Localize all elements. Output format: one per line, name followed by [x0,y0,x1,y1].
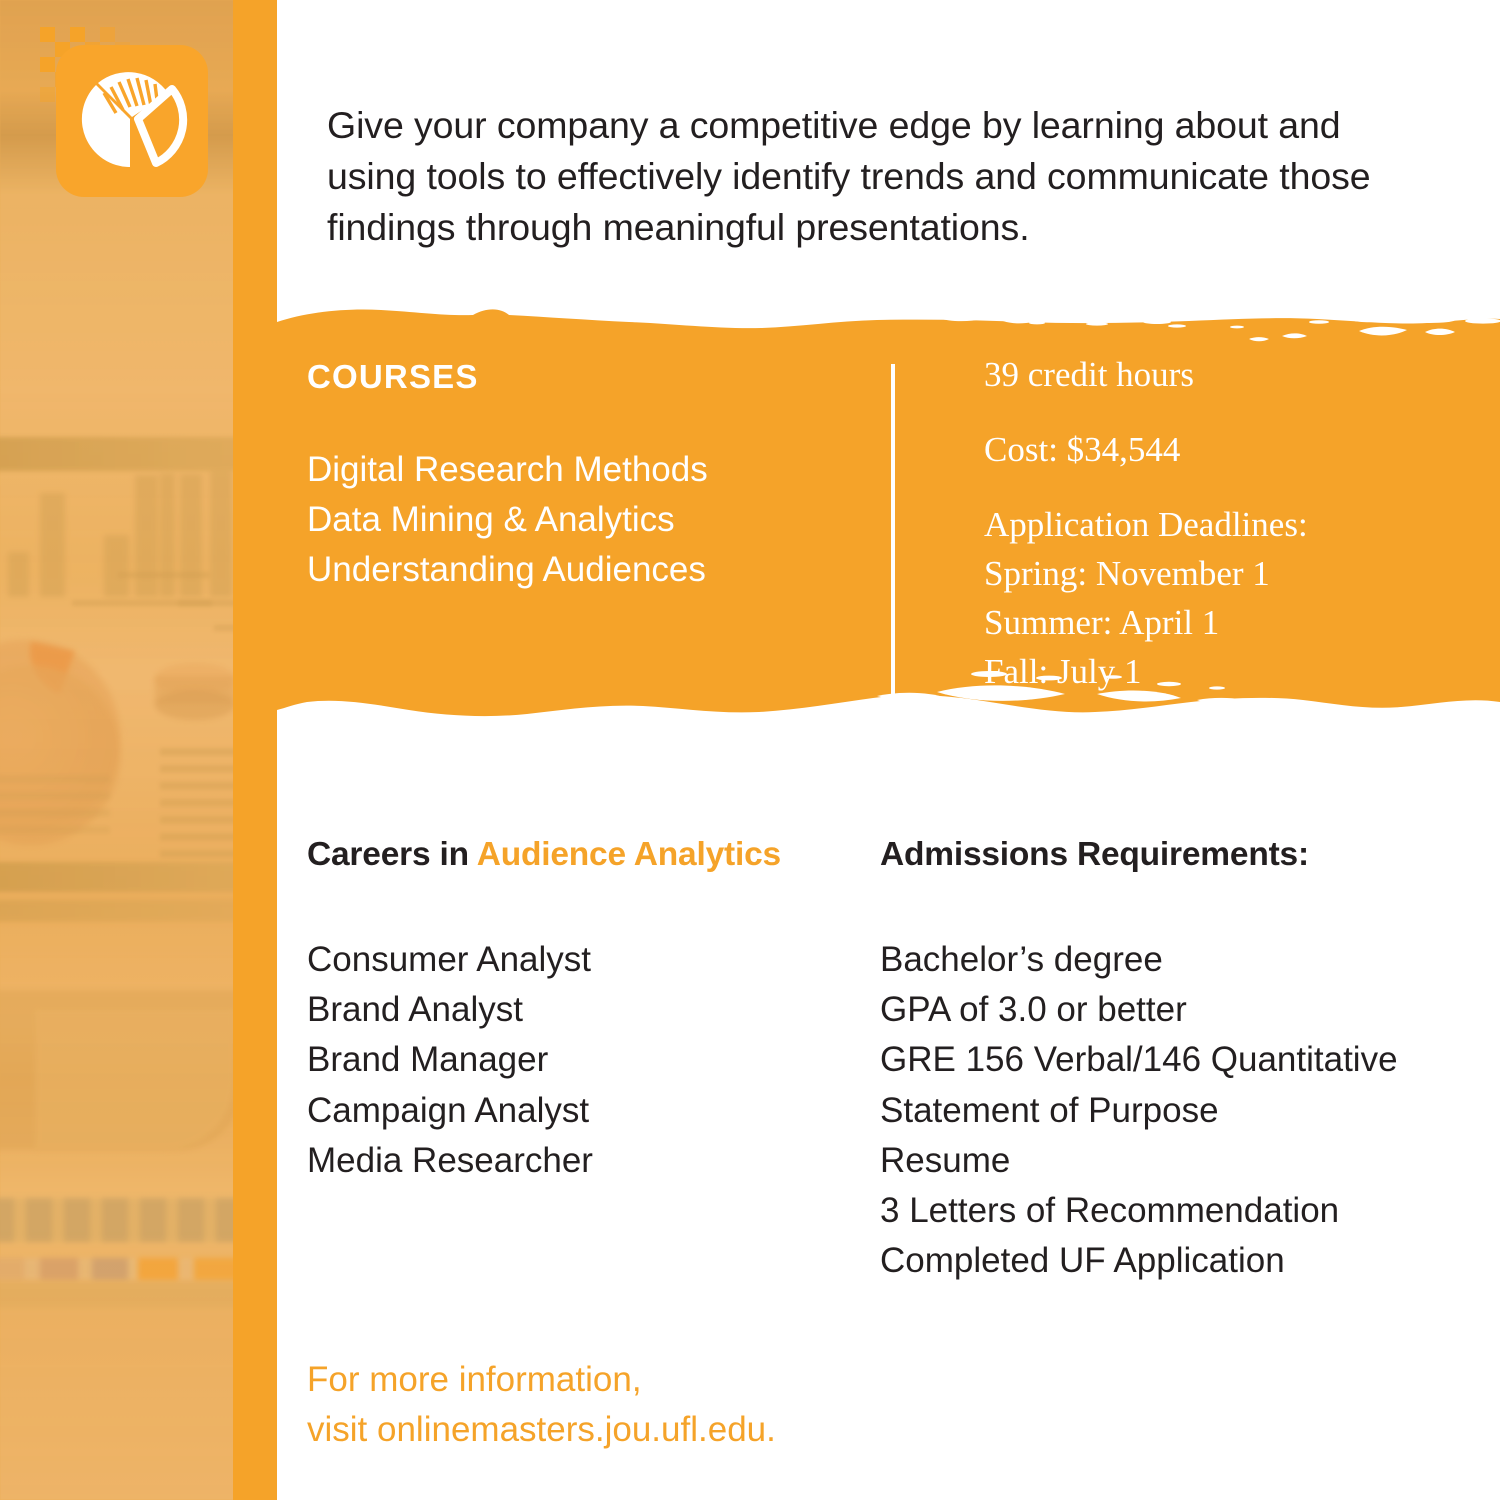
course-item: Understanding Audiences [307,545,708,595]
credit-hours: 39 credit hours [984,350,1484,399]
career-item: Campaign Analyst [307,1086,593,1136]
left-accent-stripe [233,0,277,1500]
pie-chart-logo-icon [76,63,188,175]
highlight-band: COURSES Digital Research Methods Data Mi… [277,296,1500,764]
spacer [984,474,1484,500]
deadline-item: Summer: April 1 [984,598,1484,647]
intro-paragraph: Give your company a competitive edge by … [327,100,1432,254]
careers-list: Consumer Analyst Brand Analyst Brand Man… [307,935,593,1186]
spacer [984,399,1484,425]
courses-heading: COURSES [307,358,479,396]
course-item: Data Mining & Analytics [307,495,708,545]
admissions-item: Statement of Purpose [880,1086,1398,1136]
photo-wash [0,0,236,1500]
program-facts: 39 credit hours Cost: $34,544 Applicatio… [984,350,1484,696]
careers-heading: Careers in Audience Analytics [307,836,781,874]
admissions-item: GRE 156 Verbal/146 Quantitative [880,1035,1398,1085]
courses-list: Digital Research Methods Data Mining & A… [307,445,708,595]
course-item: Digital Research Methods [307,445,708,495]
admissions-item: Completed UF Application [880,1236,1398,1286]
admissions-item: Bachelor’s degree [880,935,1398,985]
deadline-item: Spring: November 1 [984,549,1484,598]
admissions-item: Resume [880,1136,1398,1186]
more-info-footer[interactable]: For more information, visit onlinemaster… [307,1355,776,1455]
infographic-page: Give your company a competitive edge by … [0,0,1500,1500]
program-cost: Cost: $34,544 [984,425,1484,474]
admissions-item: GPA of 3.0 or better [880,985,1398,1035]
admissions-list: Bachelor’s degree GPA of 3.0 or better G… [880,935,1398,1287]
website-link[interactable]: visit onlinemasters.jou.ufl.edu. [307,1405,776,1455]
admissions-item: 3 Letters of Recommendation [880,1186,1398,1236]
deadline-item: Fall: July 1 [984,647,1484,696]
careers-heading-highlight: Audience Analytics [477,836,781,873]
vertical-divider [891,364,895,720]
content-plate: Give your company a competitive edge by … [277,0,1500,1500]
admissions-heading: Admissions Requirements: [880,836,1309,874]
career-item: Brand Manager [307,1035,593,1085]
careers-heading-prefix: Careers in [307,836,477,873]
more-info-line1: For more information, [307,1355,776,1405]
background-photo-panel [0,0,236,1500]
career-item: Media Researcher [307,1136,593,1186]
career-item: Consumer Analyst [307,935,593,985]
brand-logo [56,45,208,197]
deadlines-heading: Application Deadlines: [984,500,1484,549]
career-item: Brand Analyst [307,985,593,1035]
